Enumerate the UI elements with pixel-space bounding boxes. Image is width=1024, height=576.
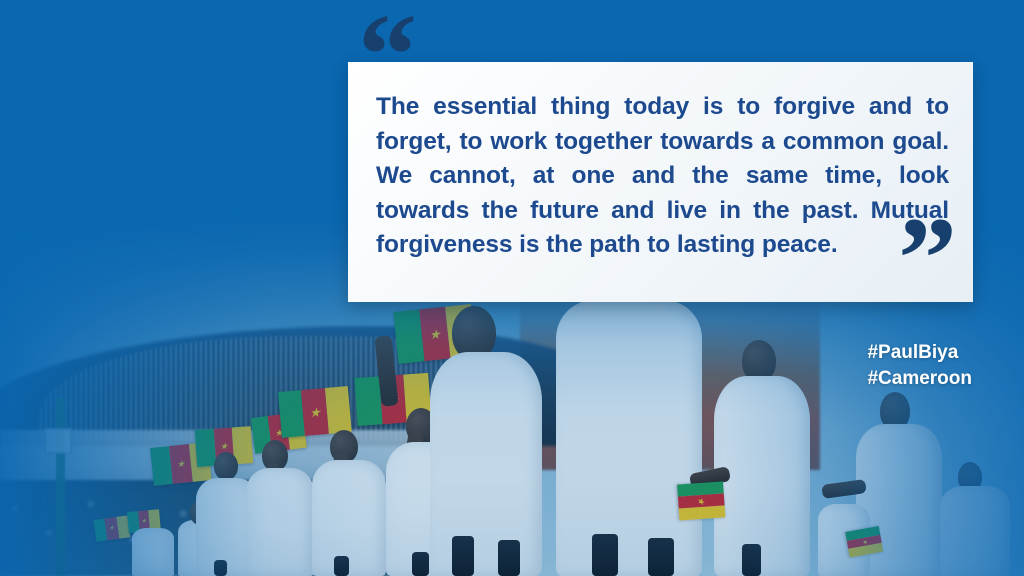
- quote-graphic: The essential thing today is to forgive …: [0, 0, 1024, 576]
- quote-text: The essential thing today is to forgive …: [376, 90, 949, 263]
- hashtag-cameroon: #Cameroon: [867, 366, 972, 392]
- close-quote-mark: ”: [898, 200, 957, 318]
- hashtag-paulbiya: #PaulBiya: [867, 340, 972, 366]
- quote-card: The essential thing today is to forgive …: [348, 62, 973, 302]
- open-quote-mark: “: [358, 0, 417, 114]
- hashtag-block: #PaulBiya #Cameroon: [867, 340, 972, 392]
